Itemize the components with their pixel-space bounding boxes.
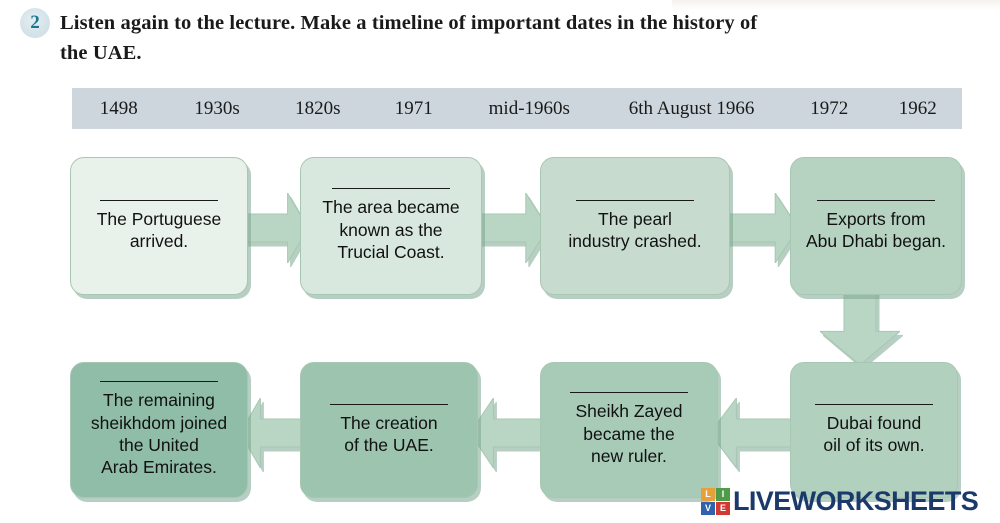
logo-tile-i: I bbox=[716, 488, 730, 501]
word-bank-item[interactable]: 1972 bbox=[785, 98, 874, 120]
arrow-right-r1-3 bbox=[722, 193, 798, 263]
timeline-box-r2-1[interactable]: The remaining sheikhdom joined the Unite… bbox=[70, 362, 248, 498]
answer-blank-line[interactable] bbox=[576, 200, 694, 201]
answer-blank-line[interactable] bbox=[815, 404, 933, 405]
arrow-right-r1-1 bbox=[240, 193, 308, 263]
logo-wordmark: LIVEWORKSHEETS bbox=[733, 486, 978, 517]
box-text: The pearl industry crashed. bbox=[560, 208, 709, 253]
logo-tile-e: E bbox=[716, 502, 730, 515]
timeline-box-r1-1[interactable]: The Portuguese arrived. bbox=[70, 157, 248, 295]
box-text: Dubai found oil of its own. bbox=[815, 412, 932, 457]
box-text: The Portuguese arrived. bbox=[89, 208, 230, 253]
arrow-left-r2-3 bbox=[710, 398, 798, 468]
worksheet-page: 2 Listen again to the lecture. Make a ti… bbox=[0, 0, 1000, 523]
arrow-left-r2-2 bbox=[470, 398, 548, 468]
timeline-box-r1-4[interactable]: Exports from Abu Dhabi began. bbox=[790, 157, 962, 295]
logo-tile-v: V bbox=[701, 502, 715, 515]
timeline-box-r2-2[interactable]: The creation of the UAE. bbox=[300, 362, 478, 498]
arrow-down-connector bbox=[820, 285, 900, 365]
logo-tiles: L I V E bbox=[701, 488, 730, 515]
liveworksheets-logo: L I V E LIVEWORKSHEETS bbox=[701, 486, 978, 516]
box-text: Exports from Abu Dhabi began. bbox=[798, 208, 954, 253]
timeline-box-r1-2[interactable]: The area became known as the Trucial Coa… bbox=[300, 157, 482, 295]
word-bank: 14981930s1820s1971mid-1960s6th August 19… bbox=[72, 88, 962, 129]
box-text: Sheikh Zayed became the new ruler. bbox=[567, 400, 690, 467]
answer-blank-line[interactable] bbox=[100, 200, 218, 201]
box-text: The area became known as the Trucial Coa… bbox=[314, 196, 467, 263]
answer-blank-line[interactable] bbox=[570, 392, 688, 393]
answer-blank-line[interactable] bbox=[100, 381, 218, 382]
timeline-box-r1-3[interactable]: The pearl industry crashed. bbox=[540, 157, 730, 295]
word-bank-item[interactable]: 1820s bbox=[269, 98, 367, 120]
logo-tile-l: L bbox=[701, 488, 715, 501]
arrow-left-r2-1 bbox=[240, 398, 308, 468]
answer-blank-line[interactable] bbox=[817, 200, 935, 201]
answer-blank-line[interactable] bbox=[330, 404, 448, 405]
box-text: The remaining sheikhdom joined the Unite… bbox=[83, 389, 235, 479]
word-bank-item[interactable]: 1971 bbox=[367, 98, 460, 120]
instruction-text: Listen again to the lecture. Make a time… bbox=[60, 9, 780, 68]
answer-blank-line[interactable] bbox=[332, 188, 450, 189]
word-bank-item[interactable]: mid-1960s bbox=[460, 98, 598, 120]
word-bank-item[interactable]: 6th August 1966 bbox=[598, 98, 785, 120]
question-number-badge: 2 bbox=[20, 8, 50, 38]
timeline-box-r2-3[interactable]: Sheikh Zayed became the new ruler. bbox=[540, 362, 718, 498]
timeline-box-r2-4[interactable]: Dubai found oil of its own. bbox=[790, 362, 958, 498]
word-bank-item[interactable]: 1962 bbox=[873, 98, 962, 120]
box-text: The creation of the UAE. bbox=[332, 412, 445, 457]
arrow-right-r1-2 bbox=[474, 193, 548, 263]
word-bank-item[interactable]: 1498 bbox=[72, 98, 165, 120]
word-bank-item[interactable]: 1930s bbox=[165, 98, 268, 120]
